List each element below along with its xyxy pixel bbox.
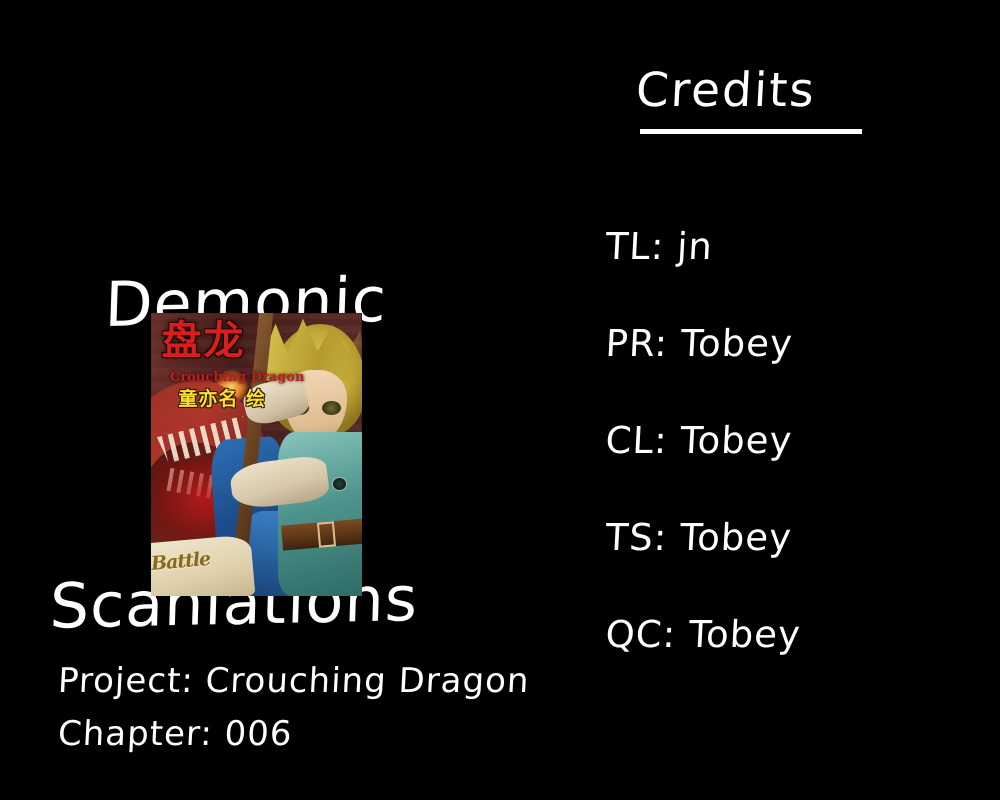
credit-separator: :: [650, 225, 678, 268]
credits-heading: Credits: [634, 62, 863, 120]
credit-row: TS: Tobey: [527, 472, 952, 569]
cover-character-eye-right: [322, 401, 341, 415]
cover-author-credit: 童亦名 绘: [178, 388, 266, 410]
cover-banner-text: Battle: [151, 548, 211, 575]
credits-page: Demonic Scanlations Credits TL: jn PR: T…: [0, 0, 1000, 800]
credit-role: TL: [605, 225, 652, 268]
credit-role: QC: [605, 613, 664, 656]
cover-title-chinese: 盘龙: [162, 319, 246, 363]
manga-cover-image: Battle 盘龙 Crouching Dragon 童亦名 绘: [151, 313, 362, 596]
credit-separator: :: [653, 516, 681, 559]
credit-role: TS: [605, 516, 655, 559]
credit-row: QC: Tobey: [527, 569, 952, 666]
credits-heading-group: Credits: [636, 62, 862, 134]
credit-row: TL: jn: [527, 181, 952, 278]
credit-role: PR: [605, 322, 656, 365]
credit-separator: :: [662, 613, 690, 656]
credit-row: CL: Tobey: [527, 375, 952, 472]
credit-name: Tobey: [688, 613, 802, 656]
project-info-block: Project: Crouching Dragon Chapter: 006: [58, 655, 529, 761]
credit-row: PR: Tobey: [527, 278, 952, 375]
credit-separator: :: [653, 419, 681, 462]
credit-name: Tobey: [679, 516, 793, 559]
credit-name: Tobey: [679, 419, 793, 462]
credit-name: Tobey: [680, 322, 794, 365]
credit-role: CL: [605, 419, 656, 462]
cover-title-english: Crouching Dragon: [170, 371, 304, 385]
credits-heading-underline: [640, 129, 862, 134]
chapter-line: Chapter: 006: [57, 708, 531, 761]
credit-separator: :: [653, 322, 681, 365]
cover-banner-scroll: Battle: [151, 535, 255, 596]
credits-list: TL: jn PR: Tobey CL: Tobey TS: Tobey QC:…: [530, 181, 950, 666]
cover-belt-buckle: [317, 522, 336, 549]
cover-character-torso: [278, 432, 362, 596]
project-line: Project: Crouching Dragon: [57, 655, 531, 708]
credit-name: jn: [676, 225, 714, 268]
